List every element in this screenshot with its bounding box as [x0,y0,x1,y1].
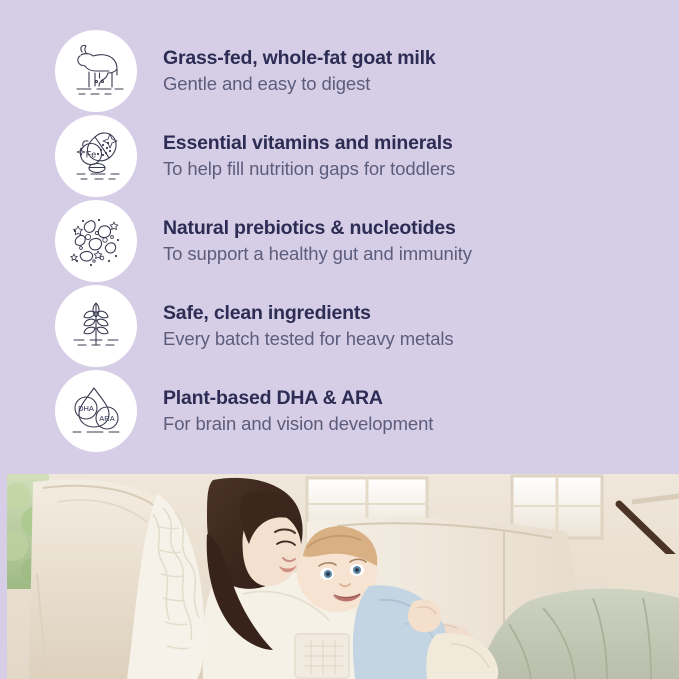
benefit-text: Natural prebiotics & nucleotides To supp… [163,216,655,267]
benefits-list: Grass-fed, whole-fat goat milk Gentle an… [0,0,679,474]
benefit-text: Plant-based DHA & ARA For brain and visi… [163,386,655,437]
goat-icon [55,30,137,112]
lifestyle-photo [7,474,679,679]
benefit-row: Safe, clean ingredients Every batch test… [55,285,655,367]
benefit-text: Essential vitamins and minerals To help … [163,131,655,182]
benefit-title: Plant-based DHA & ARA [163,386,655,411]
photo-illustration [7,474,679,679]
icon-dha-label: DHA [78,404,94,413]
benefit-subtitle: Every batch tested for heavy metals [163,327,655,351]
benefit-row: Grass-fed, whole-fat goat milk Gentle an… [55,30,655,112]
benefit-row: DHA ARA Plant-based DHA & ARA For brain … [55,370,655,452]
benefit-text: Grass-fed, whole-fat goat milk Gentle an… [163,46,655,97]
benefit-subtitle: Gentle and easy to digest [163,72,655,96]
benefit-title: Natural prebiotics & nucleotides [163,216,655,241]
vitamin-capsule-iron-icon: Fe [55,115,137,197]
dha-ara-droplets-icon: DHA ARA [55,370,137,452]
benefit-title: Essential vitamins and minerals [163,131,655,156]
benefit-subtitle: To help fill nutrition gaps for toddlers [163,157,655,181]
lifestyle-photo-band [0,474,679,679]
benefit-title: Safe, clean ingredients [163,301,655,326]
benefit-subtitle: For brain and vision development [163,412,655,436]
icon-ara-label: ARA [99,414,114,423]
probiotic-bacteria-icon [55,200,137,282]
icon-iron-label: Fe [86,150,97,160]
benefit-title: Grass-fed, whole-fat goat milk [163,46,655,71]
benefit-row: Fe Essential vitamins and minerals To he… [55,115,655,197]
benefit-row: Natural prebiotics & nucleotides To supp… [55,200,655,282]
benefit-text: Safe, clean ingredients Every batch test… [163,301,655,352]
wheat-stalk-icon [55,285,137,367]
product-benefits-page: Grass-fed, whole-fat goat milk Gentle an… [0,0,679,679]
benefit-subtitle: To support a healthy gut and immunity [163,242,655,266]
